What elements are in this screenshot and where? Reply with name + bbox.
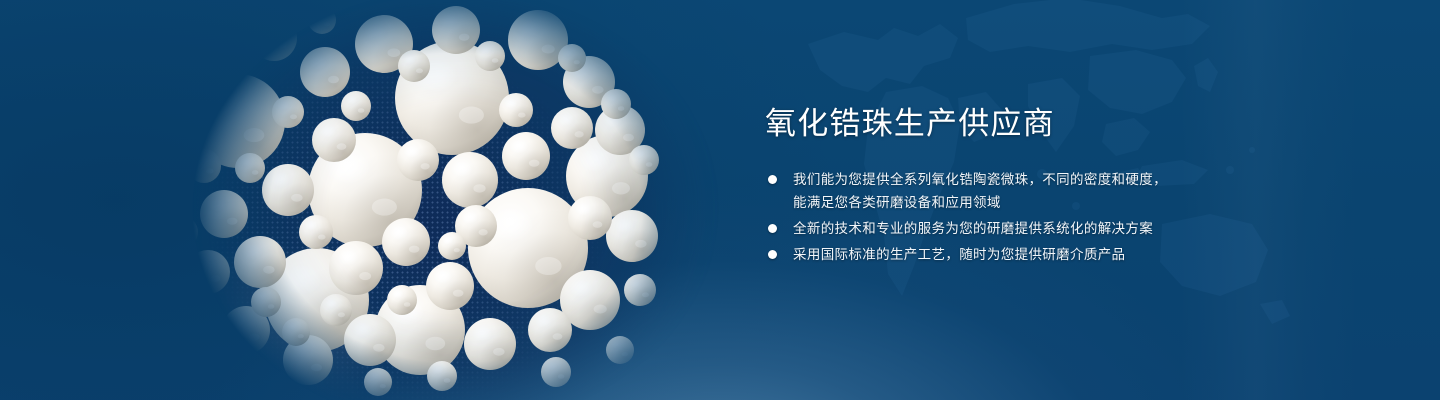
list-item: 我们能为您提供全系列氧化锆陶瓷微珠，不同的密度和硬度， 能满足您各类研磨设备和应…	[765, 168, 1325, 214]
bullet-dot-icon	[768, 250, 777, 259]
hero-banner: 氧化锆珠生产供应商 我们能为您提供全系列氧化锆陶瓷微珠，不同的密度和硬度， 能满…	[0, 0, 1440, 400]
list-item-line: 能满足您各类研磨设备和应用领域	[793, 191, 1325, 214]
bullet-dot-icon	[768, 224, 777, 233]
feature-list: 我们能为您提供全系列氧化锆陶瓷微珠，不同的密度和硬度， 能满足您各类研磨设备和应…	[765, 168, 1325, 266]
bullet-dot-icon	[768, 175, 777, 184]
list-item-line: 全新的技术和专业的服务为您的研磨提供系统化的解决方案	[793, 217, 1325, 240]
banner-copy: 氧化锆珠生产供应商 我们能为您提供全系列氧化锆陶瓷微珠，不同的密度和硬度， 能满…	[765, 104, 1325, 269]
list-item: 全新的技术和专业的服务为您的研磨提供系统化的解决方案	[765, 217, 1325, 240]
list-item: 采用国际标准的生产工艺，随时为您提供研磨介质产品	[765, 243, 1325, 266]
list-item-line: 我们能为您提供全系列氧化锆陶瓷微珠，不同的密度和硬度，	[793, 168, 1325, 191]
page-title: 氧化锆珠生产供应商	[765, 104, 1325, 144]
list-item-line: 采用国际标准的生产工艺，随时为您提供研磨介质产品	[793, 243, 1325, 266]
zirconia-beads-artwork	[120, 0, 720, 400]
